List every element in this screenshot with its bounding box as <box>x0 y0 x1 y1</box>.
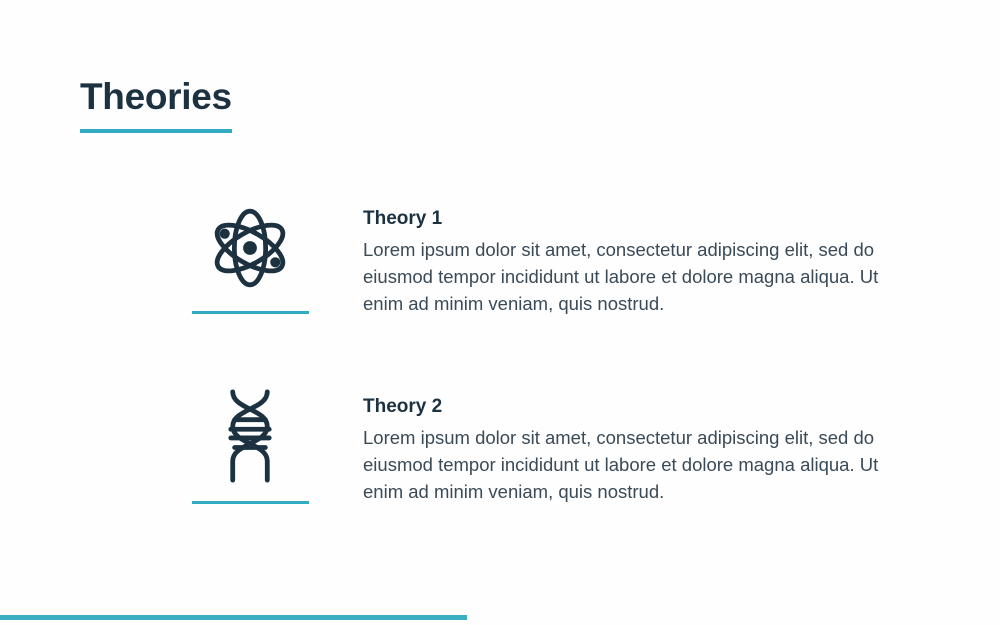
theory-body-2: Lorem ipsum dolor sit amet, consectetur … <box>363 424 908 506</box>
text-column-2: Theory 2 Lorem ipsum dolor sit amet, con… <box>363 388 908 505</box>
item-divider-2 <box>192 501 309 504</box>
page-title: Theories <box>80 78 232 115</box>
atom-icon <box>202 200 298 296</box>
icon-column-1 <box>185 200 315 314</box>
theory-item-2: Theory 2 Lorem ipsum dolor sit amet, con… <box>185 388 908 505</box>
dna-icon <box>202 388 298 484</box>
title-underline <box>80 129 232 133</box>
theory-title-2: Theory 2 <box>363 396 908 419</box>
slide-canvas: Theories Theory 1 Lorem ipsum dolor sit … <box>0 0 1000 625</box>
bottom-accent-bar <box>0 615 467 620</box>
icon-column-2 <box>185 388 315 504</box>
theory-body-1: Lorem ipsum dolor sit amet, consectetur … <box>363 236 908 318</box>
title-block: Theories <box>80 78 232 133</box>
item-divider-1 <box>192 311 309 314</box>
theory-item-1: Theory 1 Lorem ipsum dolor sit amet, con… <box>185 200 908 317</box>
theory-title-1: Theory 1 <box>363 208 908 231</box>
text-column-1: Theory 1 Lorem ipsum dolor sit amet, con… <box>363 200 908 317</box>
